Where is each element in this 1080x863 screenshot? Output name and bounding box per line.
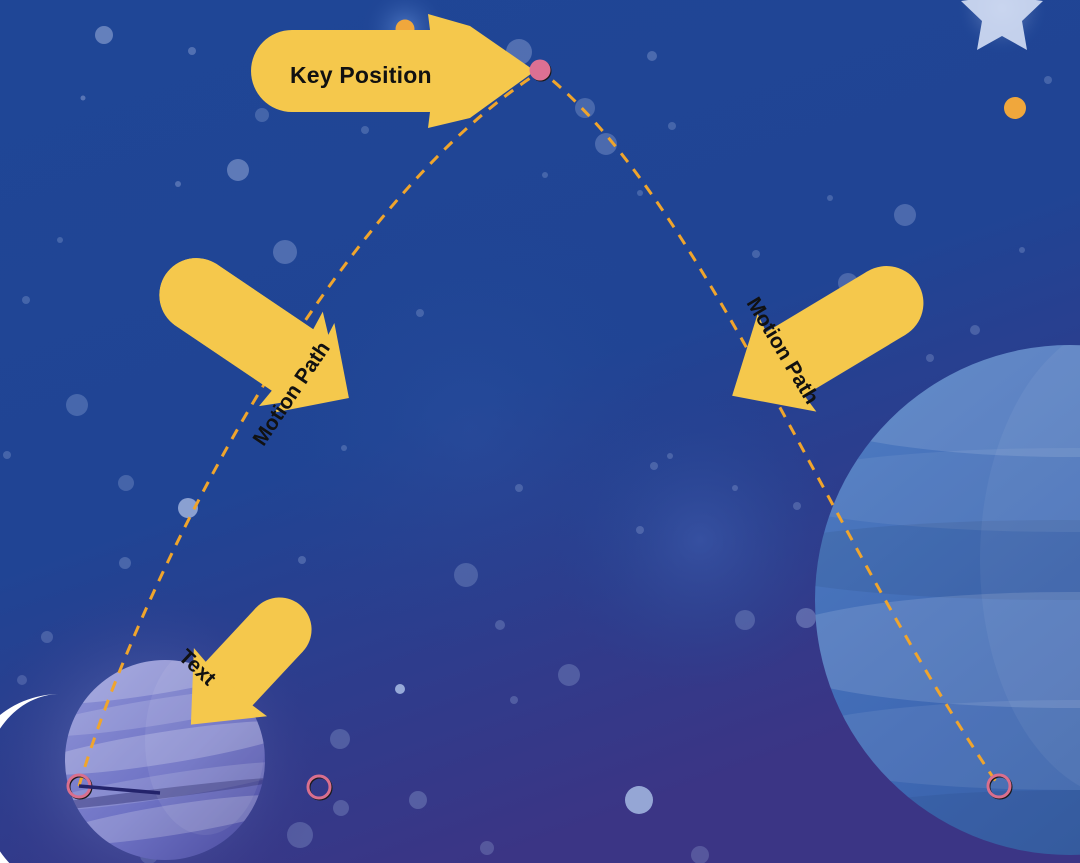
mid-glow	[240, 200, 700, 660]
diagram-canvas: Key Position Motion Path Motion Path Tex…	[0, 0, 1080, 863]
orange-dot-right	[1004, 97, 1026, 119]
space-scene	[0, 0, 1080, 863]
